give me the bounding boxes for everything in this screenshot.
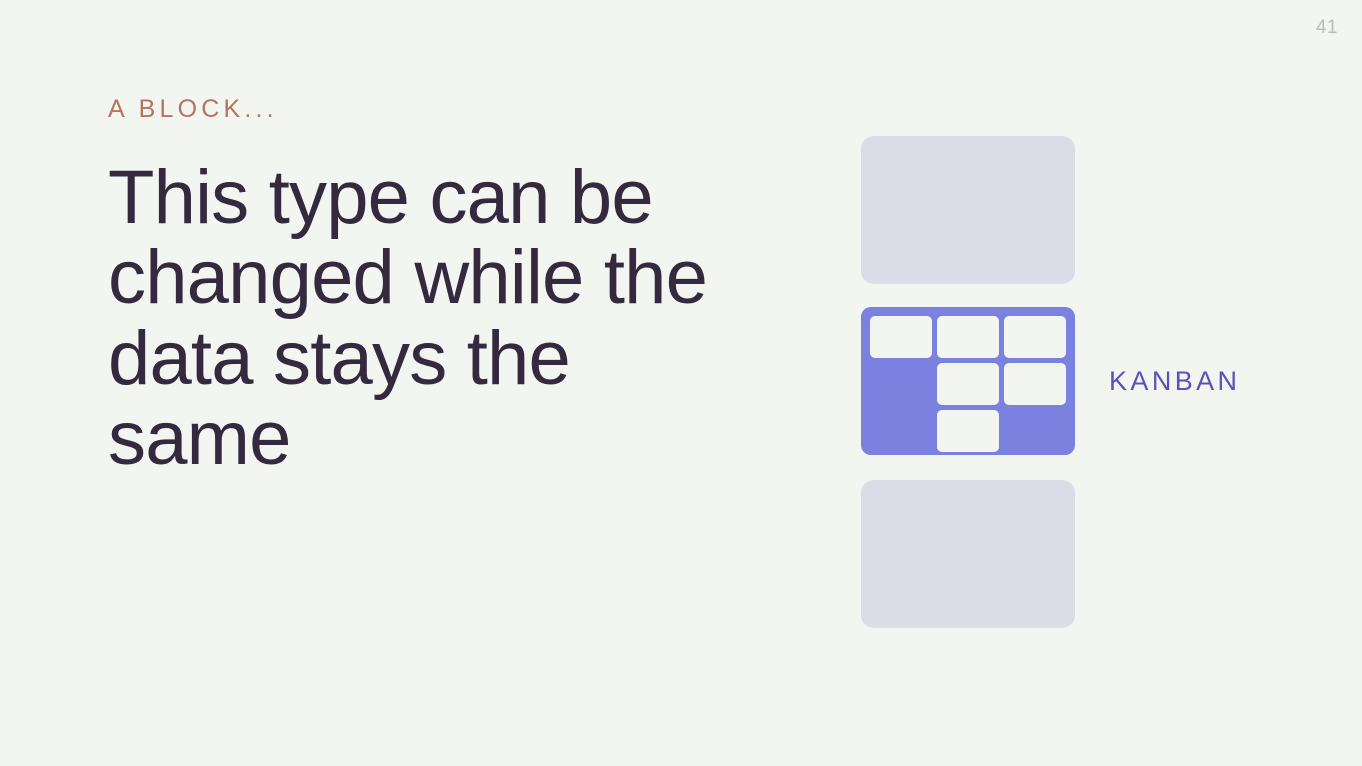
kanban-card xyxy=(1004,316,1066,358)
kanban-card xyxy=(937,316,999,358)
kanban-label: KANBAN xyxy=(1109,368,1240,395)
kanban-icon[interactable] xyxy=(861,307,1075,455)
headline-line-1: This type can be xyxy=(108,158,788,239)
page-number: 41 xyxy=(1316,18,1338,37)
kanban-card xyxy=(937,410,999,452)
headline-line-2: changed while the xyxy=(108,238,788,319)
kanban-card xyxy=(1004,363,1066,405)
text-column: A BLOCK... This type can be changed whil… xyxy=(108,96,788,480)
kanban-column-2 xyxy=(937,316,999,446)
headline-line-3: data stays the xyxy=(108,319,788,400)
kanban-card xyxy=(870,316,932,358)
kanban-row: KANBAN xyxy=(861,307,1281,455)
diagram-column: KANBAN xyxy=(861,136,1281,628)
kanban-column-3 xyxy=(1004,316,1066,446)
kanban-column-1 xyxy=(870,316,932,446)
eyebrow-label: A BLOCK... xyxy=(108,96,788,124)
headline-line-4: same xyxy=(108,399,788,480)
slide-canvas: 41 A BLOCK... This type can be changed w… xyxy=(0,0,1362,766)
kanban-card xyxy=(937,363,999,405)
page-title: This type can be changed while the data … xyxy=(108,158,788,480)
placeholder-block-bottom xyxy=(861,480,1075,628)
placeholder-block-top xyxy=(861,136,1075,284)
